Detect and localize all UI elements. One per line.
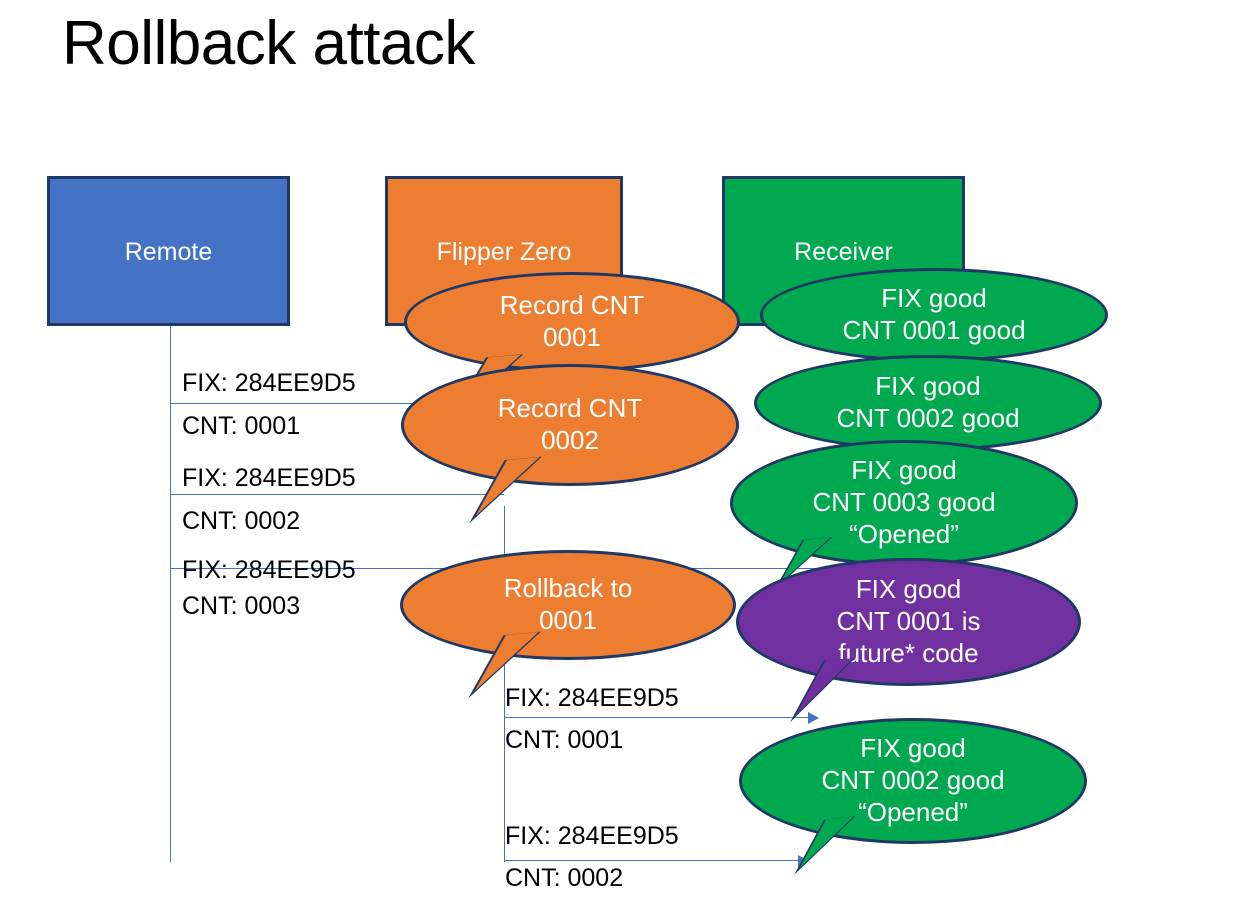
message-5-cnt: CNT: 0002 <box>505 864 623 893</box>
bubble-line-3: future* code <box>838 638 978 668</box>
flipper-bubble-record-0002[interactable]: Record CNT 0002 <box>401 364 739 486</box>
actor-label-receiver: Receiver <box>725 239 962 267</box>
receiver-bubble-cnt-0002-opened-tail <box>789 813 854 870</box>
bubble-line-2: CNT 0002 good <box>821 765 1004 795</box>
receiver-bubble-cnt-0001-good[interactable]: FIX good CNT 0001 good <box>760 268 1108 362</box>
flipper-bubble-rollback-0001[interactable]: Rollback to 0001 <box>400 550 736 660</box>
message-5-fix: FIX: 284EE9D5 <box>505 822 679 851</box>
flipper-bubble-rollback-0001-tail <box>461 628 538 694</box>
bubble-line-1: Rollback to <box>504 573 633 603</box>
message-4-cnt: CNT: 0001 <box>505 726 623 755</box>
receiver-bubble-cnt-0001-future[interactable]: FIX good CNT 0001 is future* code <box>736 558 1081 686</box>
bubble-line-2: CNT 0001 is <box>836 606 980 636</box>
message-1-fix: FIX: 284EE9D5 <box>182 369 356 398</box>
actor-box-remote[interactable]: Remote <box>47 176 290 326</box>
message-3-fix: FIX: 284EE9D5 <box>182 556 356 585</box>
bubble-line-2: 0002 <box>541 425 599 455</box>
bubble-line-2: 0001 <box>539 605 597 635</box>
actor-label-flipper: Flipper Zero <box>388 239 620 267</box>
actor-label-remote: Remote <box>50 239 287 267</box>
receiver-bubble-cnt-0001-future-tail <box>785 652 853 720</box>
message-line-4 <box>504 717 814 718</box>
bubble-line-3: “Opened” <box>858 797 968 827</box>
message-line-2 <box>170 494 504 495</box>
bubble-line-1: FIX good <box>860 733 966 763</box>
flipper-bubble-record-0002-tail <box>462 453 539 519</box>
slide-canvas: Rollback attack FIX: 284EE9D5 CNT: 0001 … <box>0 0 1233 898</box>
bubble-line-2: 0001 <box>543 322 601 352</box>
bubble-line-2: CNT 0002 good <box>836 403 1019 433</box>
bubble-line-1: Record CNT <box>500 290 644 320</box>
bubble-line-1: Record CNT <box>498 393 642 423</box>
bubble-line-1: FIX good <box>875 371 981 401</box>
bubble-line-2: CNT 0001 good <box>842 315 1025 345</box>
receiver-bubble-cnt-0002-good[interactable]: FIX good CNT 0002 good <box>754 355 1102 451</box>
message-2-cnt: CNT: 0002 <box>182 507 300 536</box>
page-title: Rollback attack <box>62 8 475 79</box>
bubble-line-3: “Opened” <box>849 519 959 549</box>
bubble-line-1: FIX good <box>856 574 962 604</box>
message-3-cnt: CNT: 0003 <box>182 592 300 621</box>
bubble-line-1: FIX good <box>851 455 957 485</box>
message-line-5 <box>504 860 804 861</box>
message-1-cnt: CNT: 0001 <box>182 412 300 441</box>
lifeline-remote <box>170 326 171 862</box>
bubble-line-2: CNT 0003 good <box>812 487 995 517</box>
bubble-line-1: FIX good <box>881 283 987 313</box>
message-2-fix: FIX: 284EE9D5 <box>182 464 356 493</box>
